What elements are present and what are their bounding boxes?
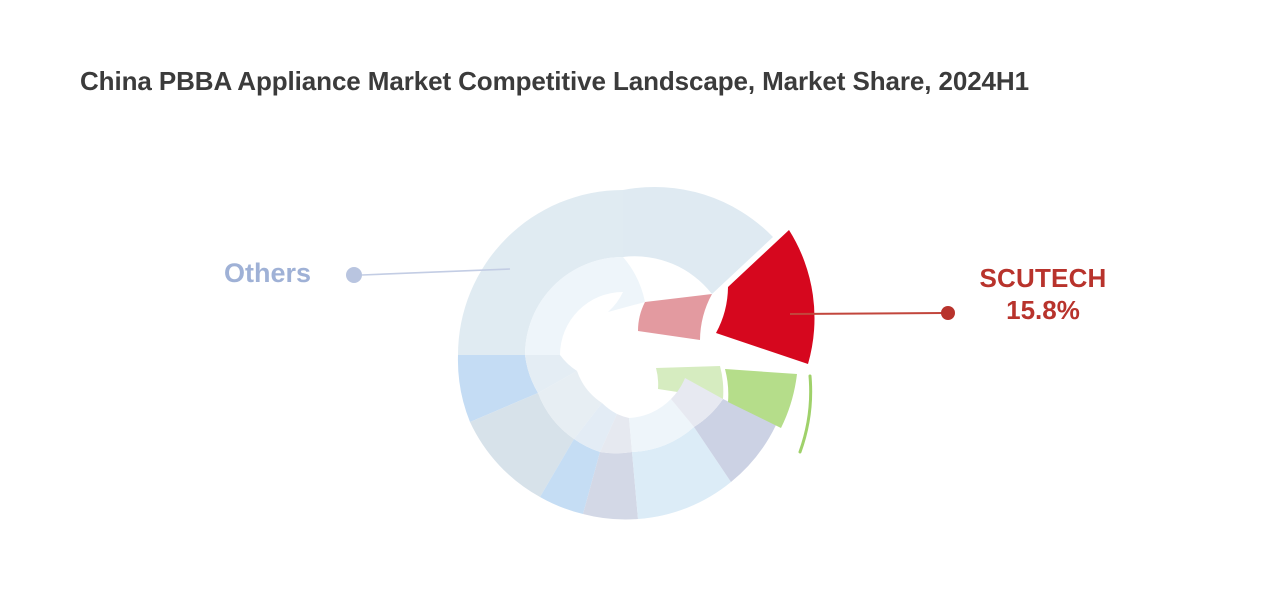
- chart-canvas: China PBBA Appliance Market Competitive …: [0, 0, 1280, 607]
- others-leader-dot: [346, 267, 362, 283]
- scutech-callout: SCUTECH 15.8%: [968, 264, 1118, 326]
- scutech-leader-dot: [941, 306, 955, 320]
- inner-ring-scutech: [638, 294, 712, 340]
- others-label: Others: [224, 258, 311, 289]
- scutech-leader-line: [790, 313, 943, 314]
- scutech-value: 15.8%: [968, 294, 1118, 327]
- scutech-label: SCUTECH: [968, 264, 1118, 294]
- green-accent-arc: [800, 376, 811, 452]
